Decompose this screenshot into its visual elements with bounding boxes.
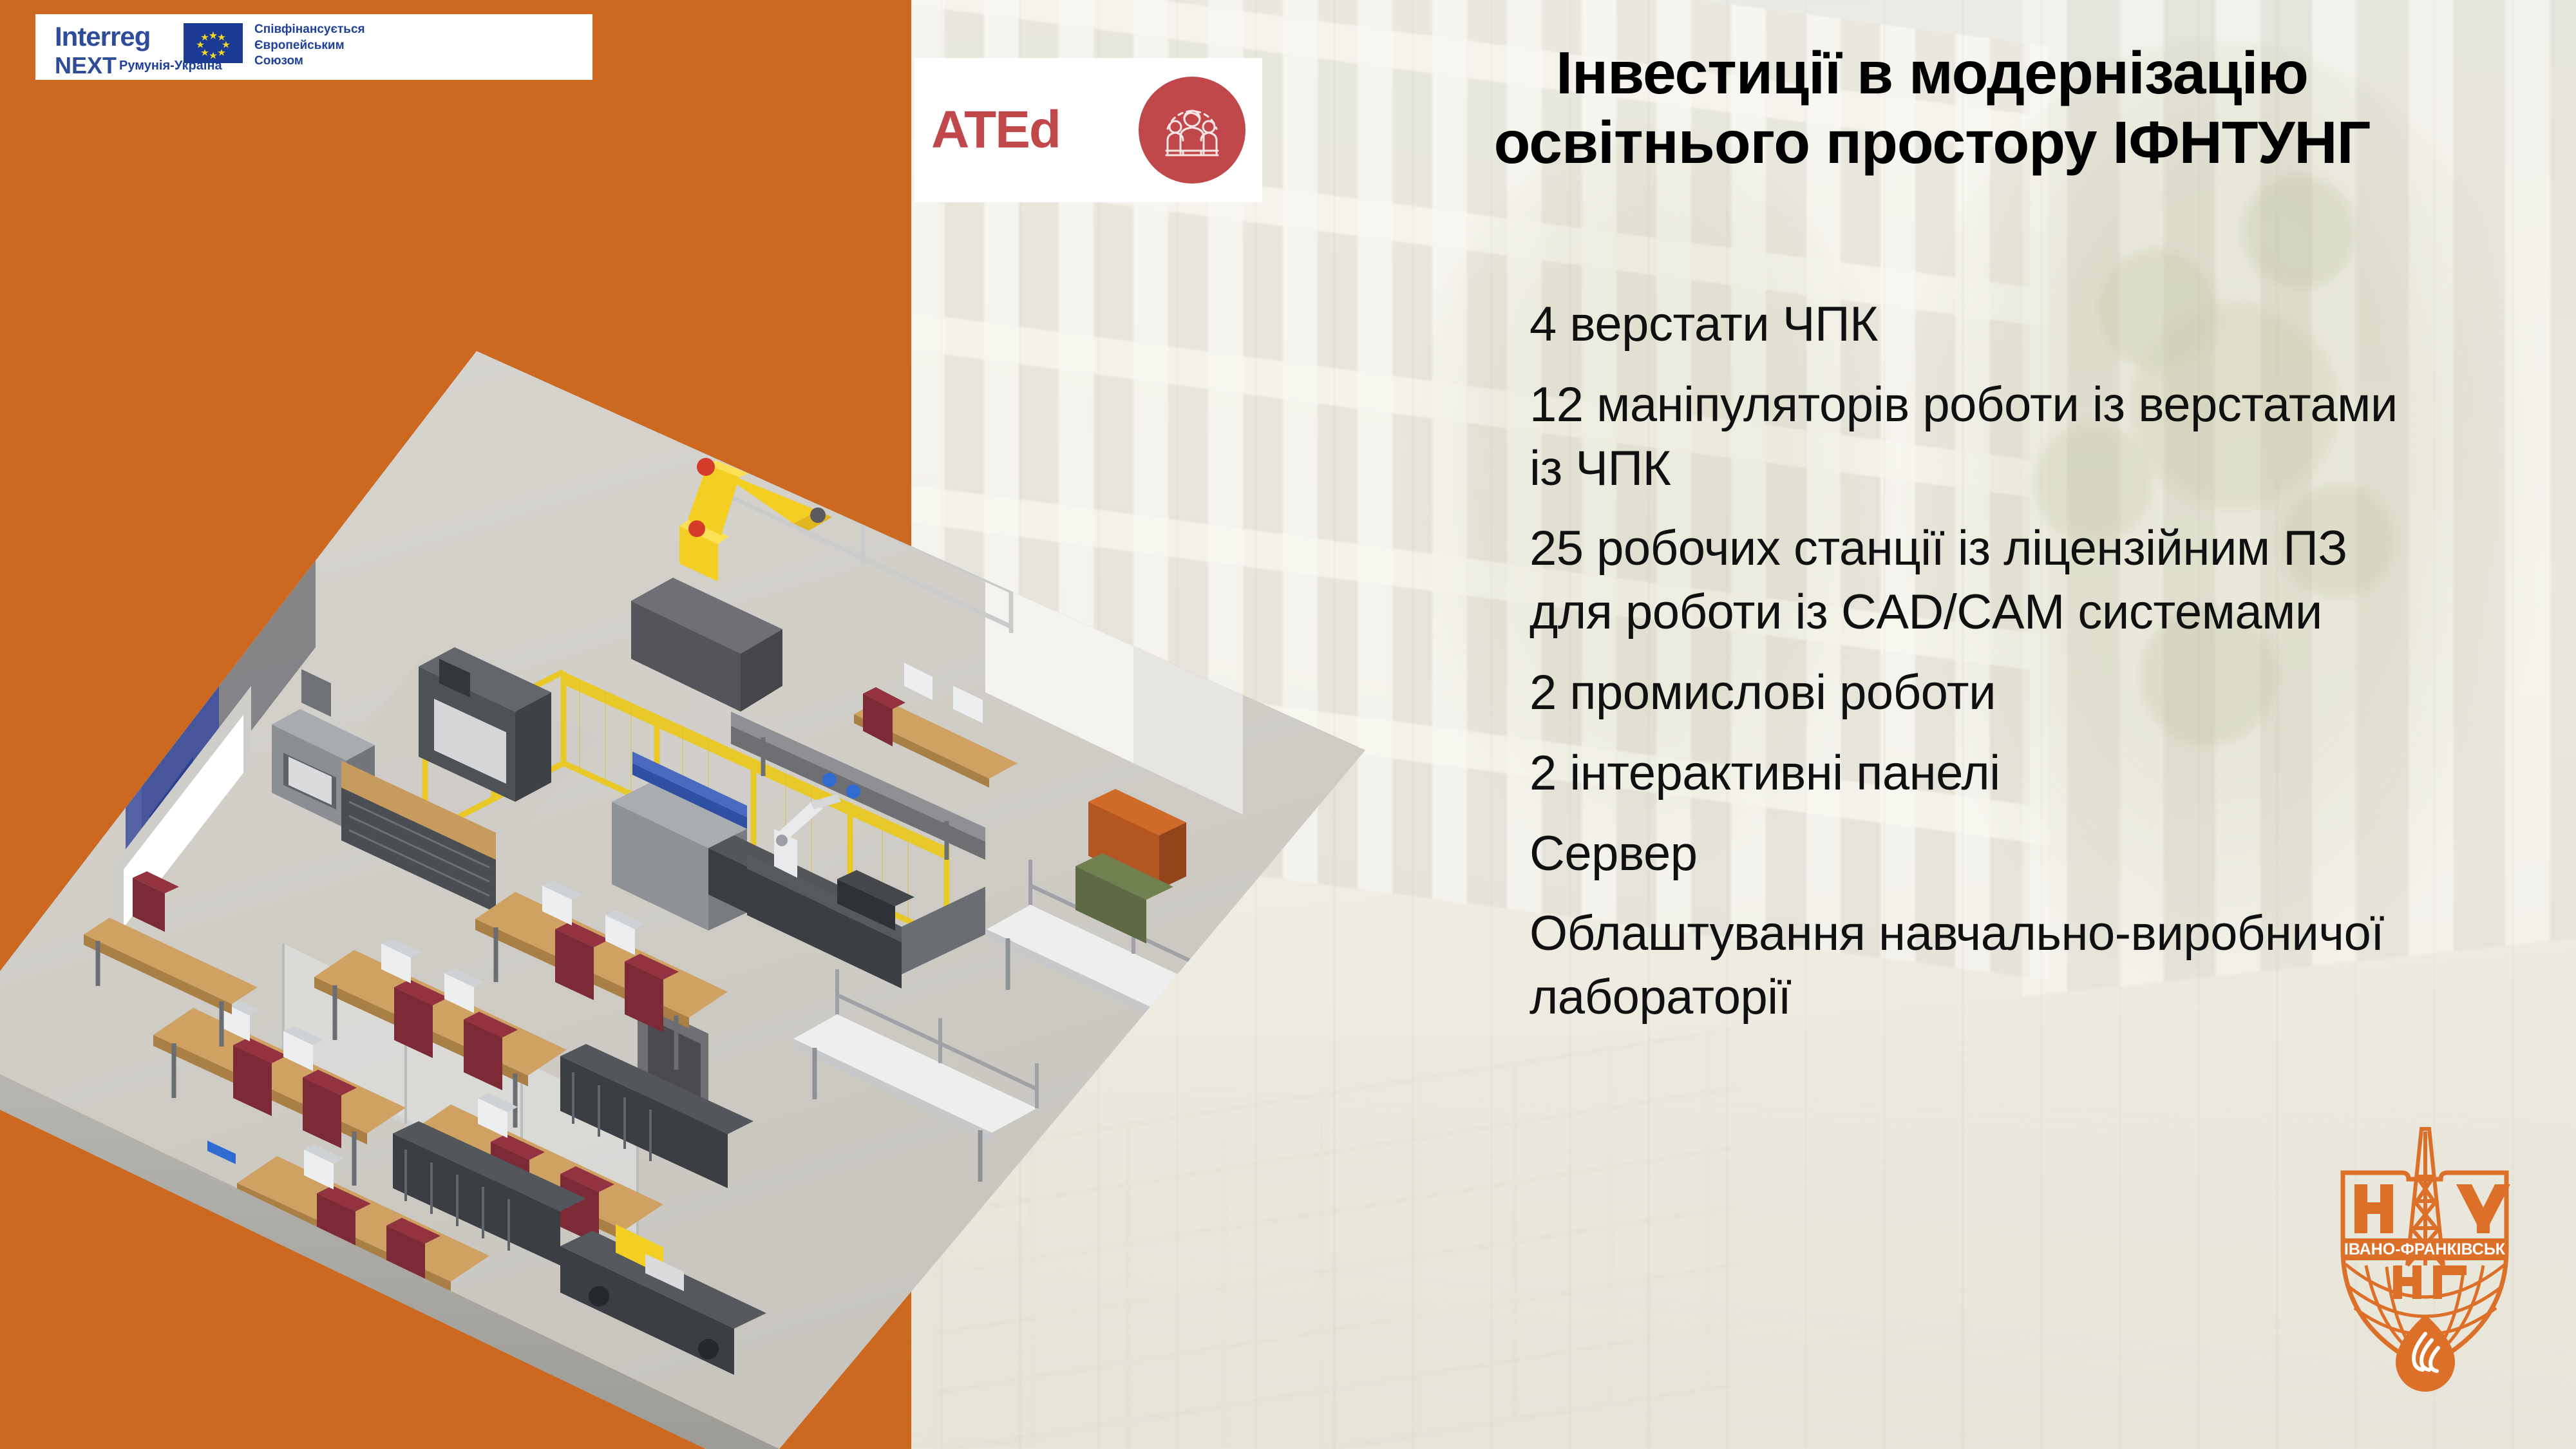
university-name-band: ІВАНО-ФРАНКІВСЬК xyxy=(2344,1240,2506,1258)
ated-wordmark: ATEd xyxy=(931,104,1060,156)
eu-flag-icon xyxy=(184,23,243,63)
list-item: 4 верстати ЧПК xyxy=(1529,293,2431,357)
page-title: Інвестиції в модернізацію освітнього про… xyxy=(1397,39,2467,178)
three-people-icon xyxy=(1139,77,1245,184)
list-item: 25 робочих станції із ліцензійним ПЗ для… xyxy=(1529,517,2431,645)
list-item: 2 інтерактивні панелі xyxy=(1529,742,2431,806)
page-title-line-2: освітнього простору ІФНТУНГ xyxy=(1397,108,2467,178)
eu-cofunding-line-1: Співфінансується xyxy=(254,22,365,38)
list-item: Облаштування навчально-виробничої лабора… xyxy=(1529,902,2431,1030)
eu-cofunding-line-3: Союзом xyxy=(254,53,365,70)
interreg-wordmark: Interreg xyxy=(55,23,150,50)
interreg-logo: Interreg NEXT Румунія-Україна xyxy=(35,14,592,80)
list-item: 12 маніпуляторів роботи із верстатами із… xyxy=(1529,374,2431,501)
ifntung-university-logo: ІВАНО-ФРАНКІВСЬК xyxy=(2318,1117,2531,1401)
presentation-slide: Interreg NEXT Румунія-Україна xyxy=(0,0,2576,1449)
list-item: 2 промислові роботи xyxy=(1529,661,2431,725)
investment-list: 4 верстати ЧПК 12 маніпуляторів роботи і… xyxy=(1529,293,2431,1030)
eu-cofunding-line-2: Європейським xyxy=(254,38,365,54)
interreg-next-wordmark: NEXT xyxy=(55,54,117,77)
ated-logo: ATEd xyxy=(914,58,1262,202)
isometric-lab-render xyxy=(0,351,1365,1449)
page-title-line-1: Інвестиції в модернізацію xyxy=(1397,39,2467,108)
list-item: Сервер xyxy=(1529,822,2431,886)
eu-cofunding-text: Співфінансується Європейським Союзом xyxy=(254,22,365,70)
